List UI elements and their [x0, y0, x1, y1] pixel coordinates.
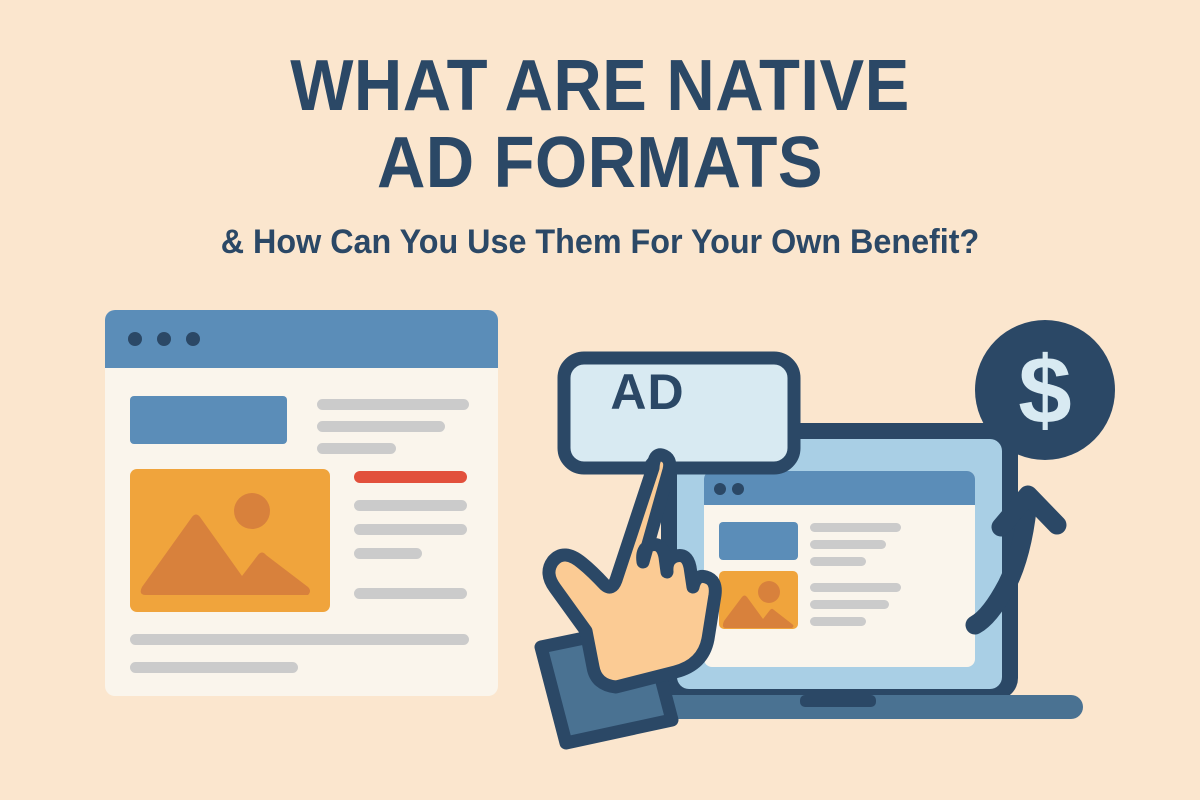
window-dot-icon	[186, 332, 200, 346]
text-line-placeholder	[130, 662, 298, 673]
browser-titlebar	[105, 310, 498, 368]
text-line-placeholder	[810, 617, 866, 626]
laptop-notch	[800, 695, 876, 707]
text-line-placeholder	[317, 421, 445, 432]
text-line-placeholder	[354, 548, 422, 559]
sun-icon	[758, 581, 780, 603]
text-line-placeholder	[810, 557, 866, 566]
title-line-2: AD FORMATS	[42, 129, 1158, 198]
text-line-placeholder	[354, 524, 467, 535]
highlight-line	[354, 471, 467, 483]
dollar-coin-icon: $	[975, 320, 1115, 460]
content-headline-block	[130, 396, 287, 444]
text-line-placeholder	[810, 523, 901, 532]
content-headline-block	[719, 522, 798, 560]
ad-badge-label: AD	[575, 367, 720, 417]
image-placeholder	[130, 469, 330, 612]
mountain-icon	[130, 469, 330, 612]
window-dot-icon	[732, 483, 744, 495]
text-line-placeholder	[810, 600, 889, 609]
text-line-placeholder	[354, 588, 467, 599]
text-line-placeholder	[810, 540, 886, 549]
headline-block: WHAT ARE NATIVE AD FORMATS & How Can You…	[0, 52, 1200, 262]
window-dot-icon	[714, 483, 726, 495]
text-line-placeholder	[130, 634, 469, 645]
laptop-inner-browser	[704, 471, 975, 667]
title-line-1: WHAT ARE NATIVE	[42, 52, 1158, 121]
poster-canvas: WHAT ARE NATIVE AD FORMATS & How Can You…	[0, 0, 1200, 800]
text-line-placeholder	[317, 443, 396, 454]
dollar-symbol: $	[1018, 337, 1071, 444]
browser-window-illustration	[105, 310, 498, 696]
window-dot-icon	[128, 332, 142, 346]
text-line-placeholder	[317, 399, 469, 410]
text-line-placeholder	[354, 500, 467, 511]
browser-content-area	[105, 368, 498, 696]
subtitle-line: & How Can You Use Them For Your Own Bene…	[30, 224, 1170, 261]
image-placeholder	[719, 571, 798, 629]
window-dot-icon	[157, 332, 171, 346]
text-line-placeholder	[810, 583, 901, 592]
